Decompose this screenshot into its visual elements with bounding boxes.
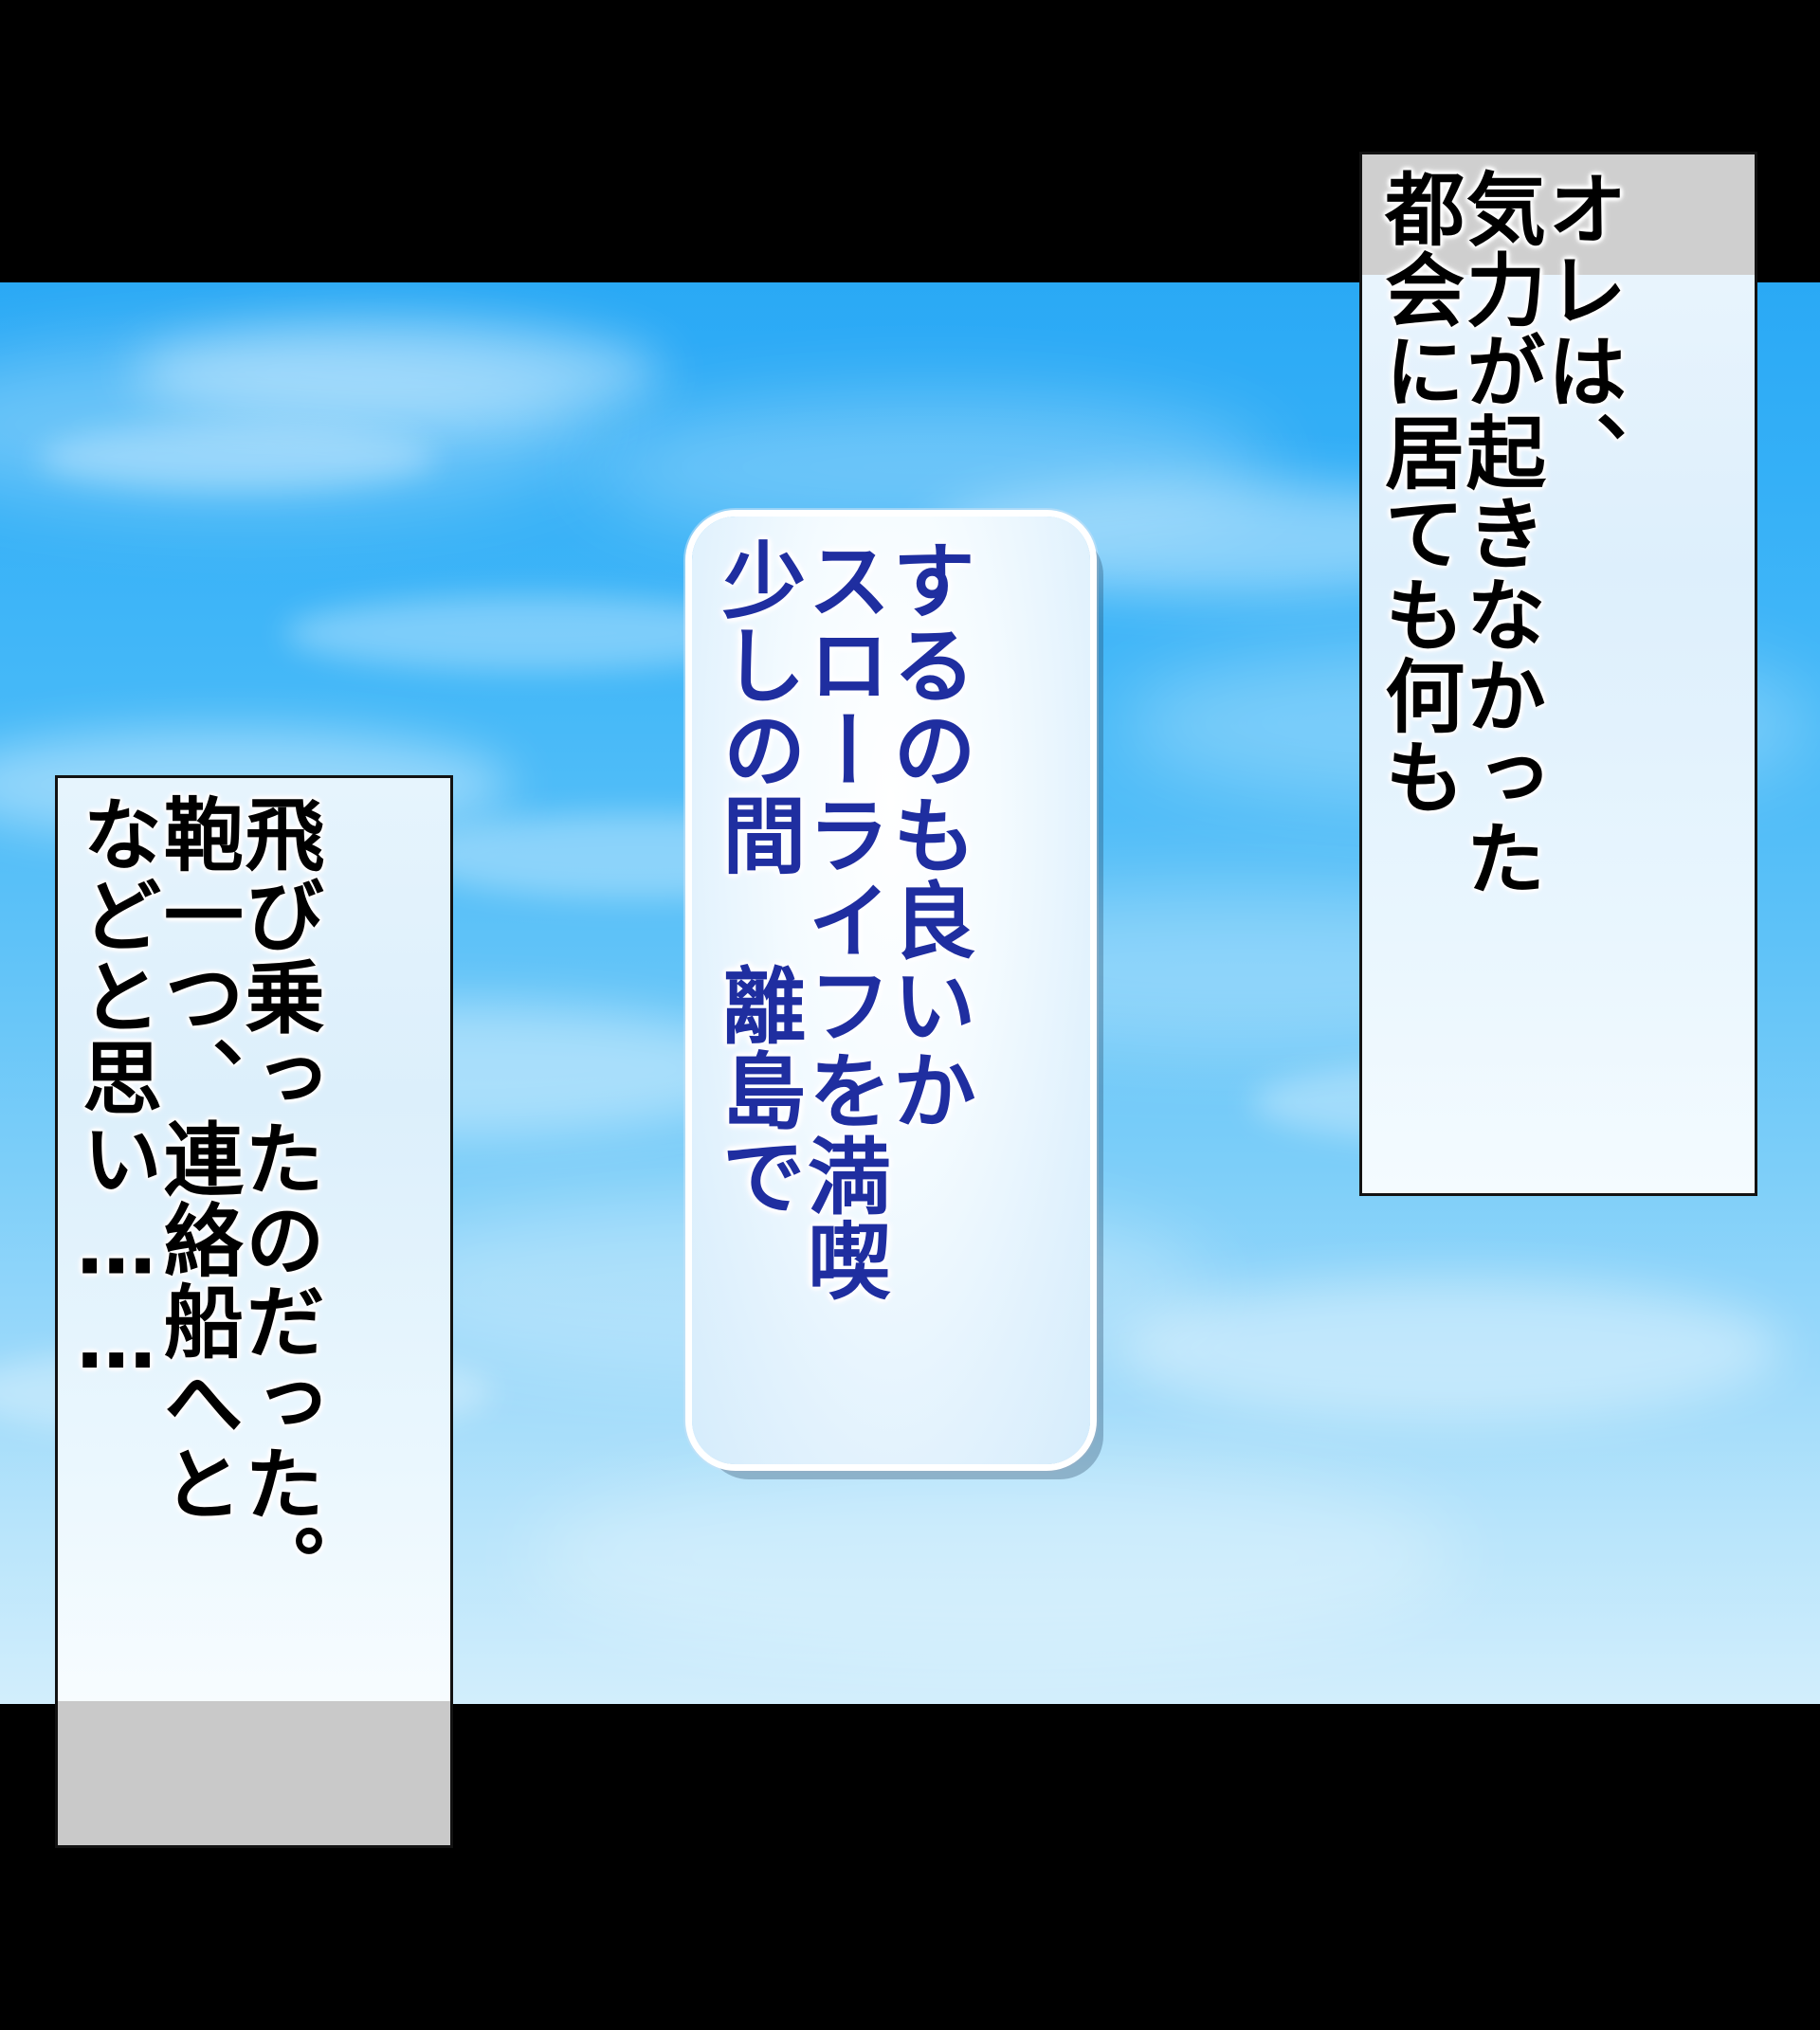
narration-top-column-3: オレは、 [1539,168,1621,1178]
manga-page: 都会に居ても何も 気力が起きなかった オレは、 少しの間 離島で スローライフを… [0,0,1820,2030]
narration-box-top-right: 都会に居ても何も 気力が起きなかった オレは、 [1359,152,1757,1196]
speech-bubble-column-2: スローライフを満喫 [800,537,885,1443]
speech-bubble-column-3: するのも良いか [885,537,971,1443]
narration-bottom-column-1: などと思い…… [75,793,156,1830]
speech-bubble-center: 少しの間 離島で スローライフを満喫 するのも良いか [692,517,1090,1464]
speech-bubble-inner: 少しの間 離島で スローライフを満喫 するのも良いか [692,517,1090,1464]
cloud-wisp [133,320,664,425]
cloud-wisp [38,425,436,491]
speech-bubble-column-1: 少しの間 離島で [715,537,800,1443]
cloud-wisp [531,1458,1460,1657]
narration-bottom-column-3: 飛び乗ったのだった。 [237,793,318,1830]
narration-bottom-column-2: 鞄一つ、連絡船へと [156,793,238,1830]
narration-box-bottom-left-inner: などと思い…… 鞄一つ、連絡船へと 飛び乗ったのだった。 [58,778,450,1845]
narration-box-top-right-inner: 都会に居ても何も 気力が起きなかった オレは、 [1362,154,1755,1193]
narration-top-column-2: 気力が起きなかった [1459,168,1540,1178]
narration-box-bottom-left: などと思い…… 鞄一つ、連絡船へと 飛び乗ったのだった。 [55,775,453,1848]
cloud-wisp [1119,1278,1782,1420]
narration-top-column-1: 都会に居ても何も [1377,168,1459,1178]
